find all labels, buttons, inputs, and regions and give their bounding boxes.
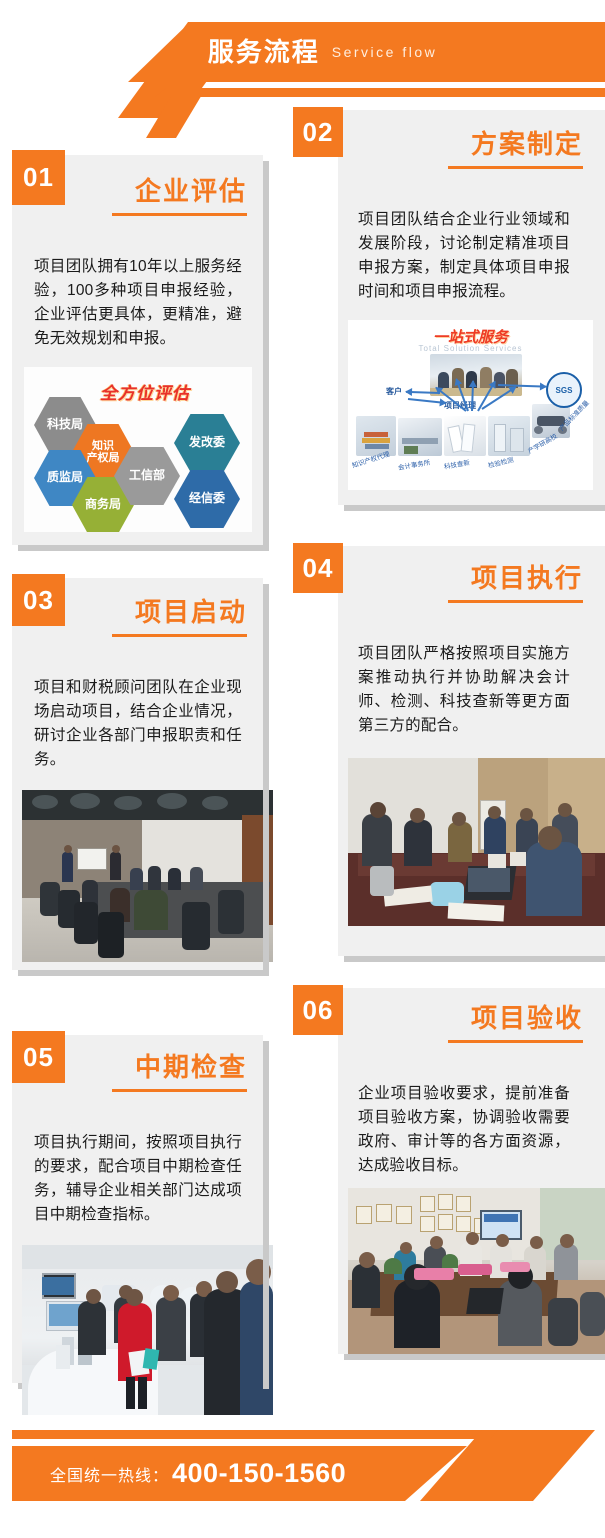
footer-banner: 全国统一热线： 400-150-1560 — [0, 1408, 605, 1538]
step-card-06: 项目验收 企业项目验收要求，提前准备项目验收方案，协调验收需要政府、审计等的各方… — [338, 988, 605, 1354]
step-03-title-rule — [112, 634, 247, 637]
step-card-01: 企业评估 项目团队拥有10年以上服务经验，100多种项目申报经验，企业评估更具体… — [12, 155, 263, 545]
photo-execution-worksession — [348, 758, 605, 926]
step-05-title-block: 中期检查 — [67, 1053, 247, 1092]
step-card-02: 方案制定 项目团队结合企业行业领域和发展阶段，讨论制定精准项目申报方案，制定具体… — [338, 110, 605, 505]
photo-kickoff-meeting — [22, 790, 273, 962]
step-06-body: 企业项目验收要求，提前准备项目验收方案，协调验收需要政府、审计等的各方面资源，达… — [358, 1082, 570, 1178]
step-03-body: 项目和财税顾问团队在企业现场启动项目，结合企业情况，研讨企业各部门申报职责和任务… — [34, 676, 242, 772]
step-01-body: 项目团队拥有10年以上服务经验，100多种项目申报经验，企业评估更具体，更精准，… — [34, 255, 242, 351]
hexagon-node-label: 质监局 — [47, 471, 83, 484]
one-stop-subtitle: Total Solution Services — [348, 344, 593, 353]
hexagon-node-label: 工信部 — [129, 469, 165, 482]
step-05-body: 项目执行期间，按照项目执行的要求，配合项目中期检查任务，辅导企业相关部门达成项目… — [34, 1131, 242, 1227]
one-stop-service-diagram: 一站式服务 Total Solution Services 客户 项目经理 — [348, 320, 593, 490]
step-04-body: 项目团队严格按照项目实施方案推动执行并协助解决会计师、检测、科技查新等更方面第三… — [358, 642, 570, 738]
photo-midterm-showroom — [22, 1245, 273, 1415]
hexagon-diagram-title: 全方位评估 — [100, 379, 190, 404]
page-subtitle: Service flow — [332, 45, 437, 59]
step-01-title-rule — [112, 213, 247, 216]
step-badge-06: 06 — [293, 985, 343, 1035]
one-stop-branch-label: 会计事务所 — [397, 456, 431, 471]
step-03-title: 项目启动 — [67, 598, 247, 627]
hexagon-node-label: 经信委 — [189, 492, 225, 505]
hexagon-node-jingxinwei: 经信委 — [174, 470, 240, 528]
footer-hotline-group: 全国统一热线： 400-150-1560 — [50, 1446, 346, 1501]
hexagon-node-label: 商务局 — [85, 498, 121, 511]
step-06-title-rule — [448, 1040, 583, 1043]
step-02-title-rule — [448, 166, 583, 169]
step-card-03: 项目启动 项目和财税顾问团队在企业现场启动项目，结合企业情况，研讨企业各部门申报… — [12, 578, 263, 970]
step-card-05: 中期检查 项目执行期间，按照项目执行的要求，配合项目中期检查任务，辅导企业相关部… — [12, 1035, 263, 1383]
one-stop-branch-label: 检验检测 — [487, 454, 515, 470]
step-05-title-rule — [112, 1089, 247, 1092]
footer-diagonal-shape — [420, 1430, 595, 1501]
step-02-title: 方案制定 — [413, 130, 583, 159]
photo-acceptance-meeting — [348, 1188, 605, 1354]
step-04-title-rule — [448, 600, 583, 603]
service-flow-infographic: 服务流程 Service flow 企业评估 项目团队拥有10年以上服务经验，1… — [0, 0, 605, 1538]
hotline-number[interactable]: 400-150-1560 — [172, 1458, 346, 1489]
hexagon-node-label: 科技局 — [47, 418, 83, 431]
step-badge-05: 05 — [12, 1031, 65, 1083]
step-04-title-block: 项目执行 — [413, 564, 583, 603]
step-04-title: 项目执行 — [413, 564, 583, 593]
one-stop-branch-label: 科技查新 — [443, 457, 470, 471]
one-stop-node-inspection — [488, 416, 530, 456]
header-title-group: 服务流程 Service flow — [0, 22, 605, 82]
step-card-04: 项目执行 项目团队严格按照项目实施方案推动执行并协助解决会计师、检测、科技查新等… — [338, 546, 605, 956]
step-badge-01: 01 — [12, 150, 65, 205]
header-banner: 服务流程 Service flow — [0, 0, 605, 118]
hexagon-node-fagaiwei: 发改委 — [174, 414, 240, 472]
one-stop-node-novelty — [444, 416, 486, 456]
footer-stripe — [12, 1430, 482, 1439]
step-02-title-block: 方案制定 — [413, 130, 583, 169]
hexagon-node-label: 知识 产权局 — [87, 440, 120, 465]
step-badge-04: 04 — [293, 543, 343, 593]
seal-label: SGS — [556, 386, 573, 395]
step-badge-02: 02 — [293, 107, 343, 157]
step-01-title-block: 企业评估 — [67, 177, 247, 216]
header-stripe — [155, 88, 605, 97]
step-06-title-block: 项目验收 — [413, 1004, 583, 1043]
hotline-label: 全国统一热线： — [50, 1462, 169, 1486]
step-05-title: 中期检查 — [67, 1053, 247, 1082]
one-stop-node-ip — [356, 416, 396, 456]
step-03-title-block: 项目启动 — [67, 598, 247, 637]
step-06-title: 项目验收 — [413, 1004, 583, 1033]
step-badge-03: 03 — [12, 574, 65, 626]
hexagon-node-label: 发改委 — [189, 436, 225, 449]
one-stop-node-accounting — [398, 418, 442, 456]
page-title: 服务流程 — [208, 39, 320, 65]
one-stop-client-label: 客户 — [386, 386, 402, 397]
step-02-body: 项目团队结合企业行业领域和发展阶段，讨论制定精准项目申报方案，制定具体项目申报时… — [358, 208, 570, 304]
assessment-hexagon-diagram: 全方位评估 科技局 知识 产权局 质监局 商务局 工信部 发改委 经信委 — [24, 367, 252, 532]
step-01-title: 企业评估 — [67, 177, 247, 206]
